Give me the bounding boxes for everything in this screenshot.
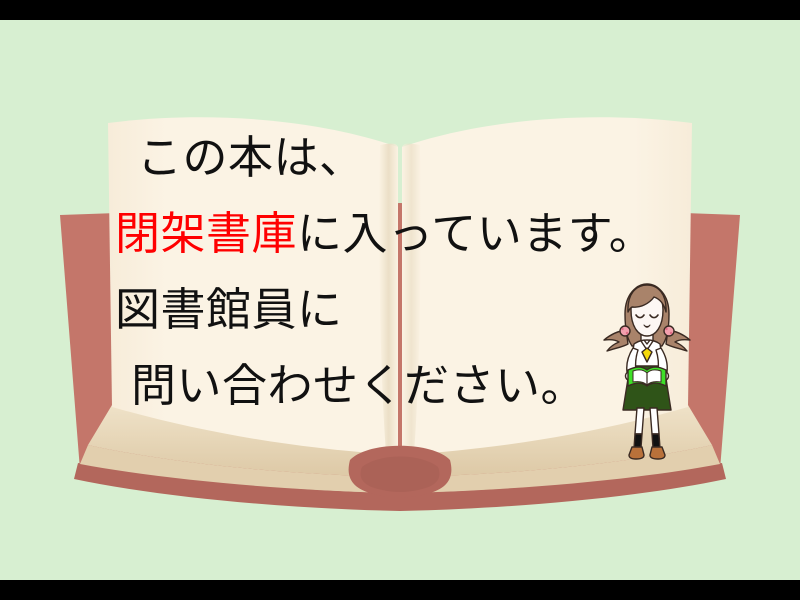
held-book-icon (628, 367, 666, 386)
notice-line-1: この本は、 (115, 120, 695, 196)
sock-right (652, 434, 660, 448)
notice-line-4-segment-1: 問い合わせください。 (131, 359, 586, 412)
leg-left (635, 408, 644, 434)
slide-content-area: この本は、 閉架書庫に入っています。 図書館員に 問い合わせください。 (0, 20, 800, 580)
notice-line-2-segment-2: に入っています。 (297, 207, 654, 260)
slide-canvas: この本は、 閉架書庫に入っています。 図書館員に 問い合わせください。 (0, 0, 800, 600)
book-spine (349, 446, 452, 498)
hair-tie-left-icon (620, 326, 630, 336)
notice-line-2: 閉架書庫に入っています。 (115, 196, 695, 272)
notice-line-3-segment-1: 図書館員に (115, 283, 343, 336)
shoe-right (650, 447, 665, 459)
girl-reading-illustration (592, 278, 702, 463)
shoe-left (629, 447, 644, 459)
letterbox-top (0, 0, 800, 20)
notice-line-1-segment-1: この本は、 (137, 131, 365, 184)
sock-left (634, 434, 642, 448)
letterbox-bottom (0, 580, 800, 600)
hair-tie-right-icon (664, 326, 674, 336)
notice-highlight-closed-stacks: 閉架書庫 (115, 207, 297, 260)
leg-right (650, 408, 659, 434)
